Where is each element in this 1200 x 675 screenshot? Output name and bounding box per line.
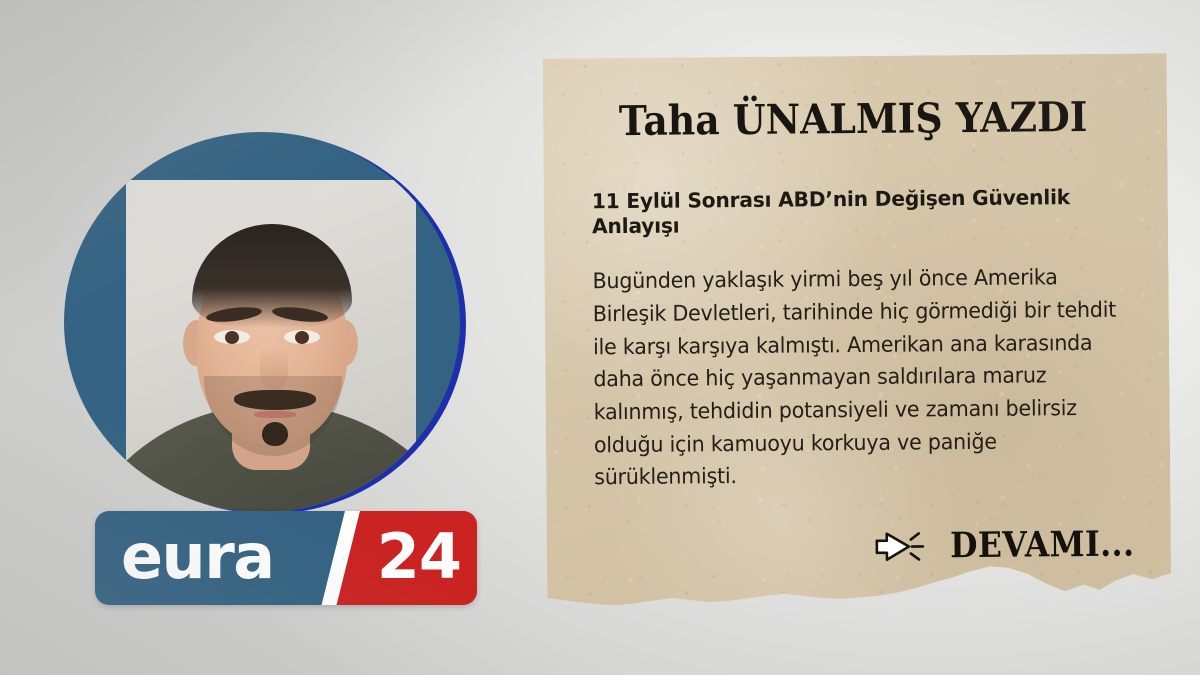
- author-photo: [126, 180, 416, 512]
- eura24-logo[interactable]: eura 24: [95, 511, 477, 605]
- article-paper-card: Taha ÜNALMIŞ YAZDI 11 Eylül Sonrası ABD’…: [543, 53, 1172, 614]
- article-promo-banner: eura 24 Taha ÜNALMIŞ YAZDI 11 Eylül Sonr…: [0, 0, 1200, 675]
- article-subtitle: 11 Eylül Sonrası ABD’nin Değişen Güvenli…: [592, 185, 1130, 239]
- portrait-disc: [64, 132, 460, 512]
- logo-wordmark: eura: [121, 526, 274, 588]
- eye-left-shape: [214, 330, 250, 344]
- cursor-click-icon: [874, 529, 928, 563]
- mustache-shape: [234, 390, 316, 410]
- read-more-cta[interactable]: DEVAMI...: [874, 526, 1145, 563]
- nose-shape: [260, 348, 288, 392]
- paper-content: Taha ÜNALMIŞ YAZDI 11 Eylül Sonrası ABD’…: [543, 53, 1172, 614]
- lip-shape: [254, 411, 296, 418]
- iris-right-shape: [295, 331, 309, 344]
- iris-left-shape: [225, 331, 239, 344]
- article-excerpt: Bugünden yaklaşık yirmi beş yıl önce Ame…: [592, 262, 1132, 495]
- soul-patch-shape: [262, 422, 288, 446]
- portrait-medallion: [48, 120, 518, 520]
- eye-right-shape: [284, 330, 320, 344]
- author-headline: Taha ÜNALMIŞ YAZDI: [592, 96, 1115, 144]
- read-more-label: DEVAMI...: [950, 527, 1135, 564]
- logo-number: 24: [377, 526, 461, 588]
